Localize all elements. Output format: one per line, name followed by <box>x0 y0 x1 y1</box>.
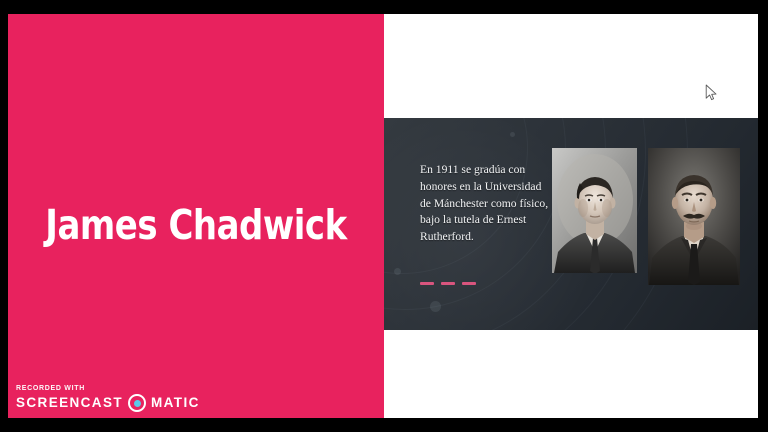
dark-content-band: En 1911 se gradúa con honores en la Univ… <box>384 118 758 330</box>
watermark-brand-right: MATIC <box>151 396 200 410</box>
orbit-dot-icon <box>394 268 401 275</box>
slide-body-text: En 1911 se gradúa con honores en la Univ… <box>420 162 550 246</box>
content-panel: En 1911 se gradúa con honores en la Univ… <box>384 14 758 418</box>
orbit-dot-icon <box>430 301 441 312</box>
watermark-brand-left: SCREENCAST <box>16 396 123 410</box>
portrait-image <box>552 148 637 273</box>
photo-chadwick <box>552 148 637 273</box>
orbit-dot-icon <box>510 132 515 137</box>
screencast-o-matic-watermark: RECORDED WITH SCREENCAST MATIC <box>12 385 172 412</box>
dash-mark <box>420 282 434 285</box>
record-dot-icon <box>128 394 146 412</box>
portrait-image <box>648 148 740 285</box>
presentation-slide: James Chadwick RECORDED WITH SCREENCAST … <box>8 14 758 418</box>
title-panel: James Chadwick RECORDED WITH SCREENCAST … <box>8 14 384 418</box>
watermark-brand: SCREENCAST MATIC <box>16 394 172 412</box>
dash-mark <box>462 282 476 285</box>
recording-frame: James Chadwick RECORDED WITH SCREENCAST … <box>0 0 768 432</box>
photo-rutherford <box>648 148 740 285</box>
dash-decoration <box>420 282 476 285</box>
watermark-recorded-with-label: RECORDED WITH <box>16 385 172 392</box>
page-title: James Chadwick <box>23 204 369 247</box>
dash-mark <box>441 282 455 285</box>
